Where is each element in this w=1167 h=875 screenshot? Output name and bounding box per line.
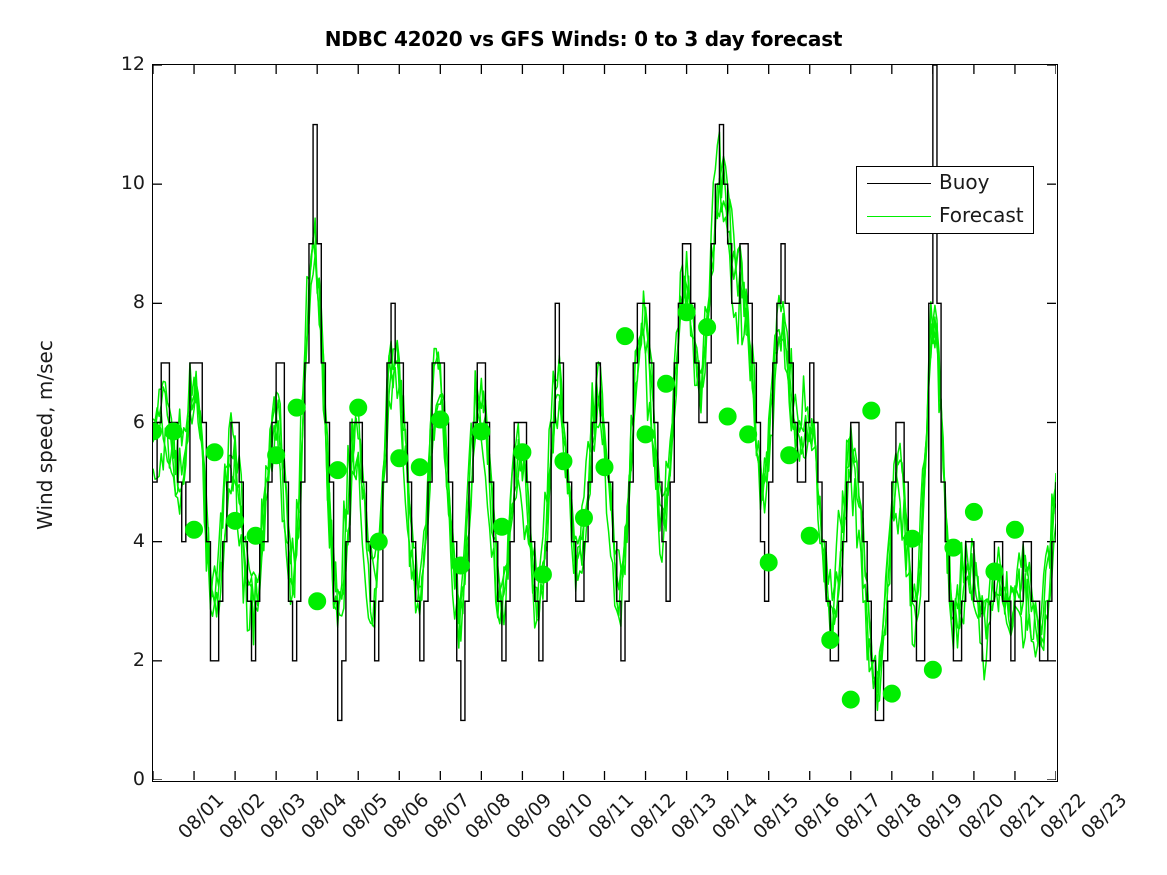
legend-swatch-buoy [867,183,931,184]
x-tick-label: 08/09 [502,789,556,843]
x-tick-label: 08/04 [297,789,351,843]
y-tick-label: 10 [101,172,145,194]
x-tick-label: 08/07 [420,789,474,843]
x-tick-label: 08/06 [379,789,433,843]
legend-swatch-forecast [867,216,931,217]
x-tick-label: 08/11 [584,789,638,843]
y-tick-label: 8 [101,291,145,313]
x-tick-label: 08/21 [995,789,1049,843]
legend-item-buoy: Buoy [857,167,1033,201]
x-tick-label: 08/03 [256,789,310,843]
x-tick-label: 08/08 [461,789,515,843]
x-tick-label: 08/01 [174,789,228,843]
y-tick-label: 6 [101,411,145,433]
x-tick-label: 08/17 [831,789,885,843]
page-title: NDBC 42020 vs GFS Winds: 0 to 3 day fore… [0,27,1167,51]
legend-label-forecast: Forecast [939,203,1024,227]
legend-item-forecast: Forecast [857,200,1033,234]
x-tick-label: 08/02 [215,789,269,843]
x-tick-label: 08/22 [1036,789,1090,843]
x-tick-label: 08/12 [626,789,680,843]
x-tick-label: 08/23 [1077,789,1131,843]
x-tick-label: 08/19 [913,789,967,843]
y-tick-label: 4 [101,530,145,552]
x-tick-label: 08/05 [338,789,392,843]
x-tick-label: 08/14 [708,789,762,843]
y-tick-label: 2 [101,649,145,671]
x-tick-label: 08/16 [790,789,844,843]
x-tick-label: 08/20 [954,789,1008,843]
x-tick-label: 08/10 [543,789,597,843]
x-tick-label: 08/15 [749,789,803,843]
y-tick-label: 0 [101,768,145,790]
buoy-series-line [153,65,1056,720]
x-tick-label: 08/13 [667,789,721,843]
y-tick-label: 12 [101,53,145,75]
y-axis-label: Wind speed, m/sec [33,235,57,635]
chart-page: NDBC 42020 vs GFS Winds: 0 to 3 day fore… [0,0,1167,875]
legend-label-buoy: Buoy [939,170,989,194]
y-axis-tick-labels: 024681012 [95,0,145,875]
x-tick-label: 08/18 [872,789,926,843]
chart-legend: Buoy Forecast [856,166,1034,234]
